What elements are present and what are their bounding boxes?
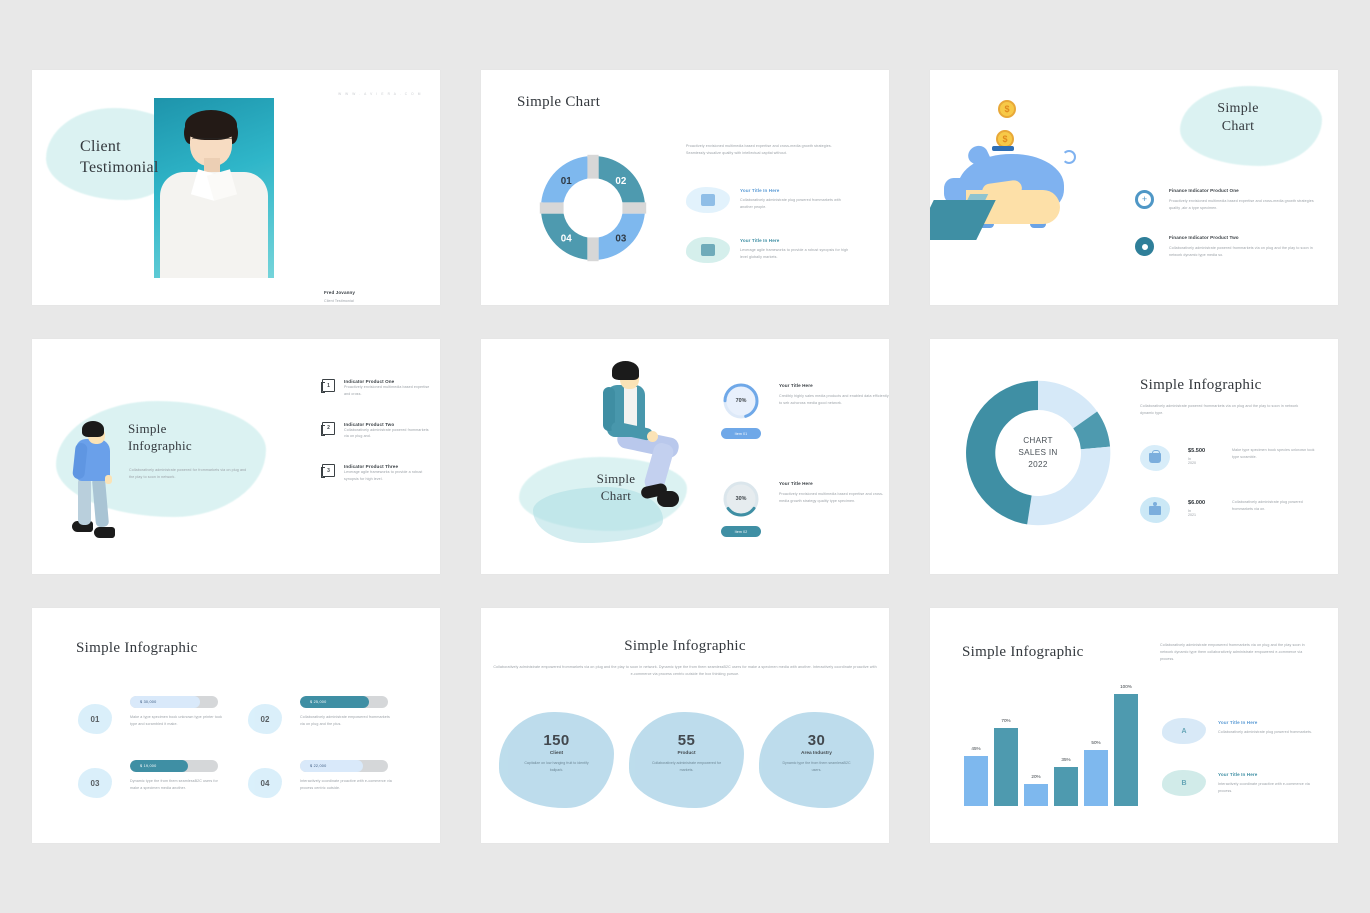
item-text: Leverage agile frameworks to provide a r… <box>344 469 434 483</box>
item-text: Credibly highly sales media products and… <box>779 393 889 407</box>
leg-right <box>92 477 109 528</box>
title-line-1: Simple <box>561 471 671 488</box>
bar-3[interactable]: 20% <box>1024 694 1048 806</box>
intro-paragraph: Proactively envisioned multimedia based … <box>686 143 846 157</box>
slide-infographic-barchart[interactable]: Simple Infographic Collaboratively admin… <box>930 608 1338 843</box>
bar-rect <box>1024 784 1048 806</box>
title-line-2: Chart <box>561 488 671 505</box>
seg-label-01: 01 <box>561 176 572 187</box>
bar-rect <box>1084 750 1108 806</box>
progress-ring-70: 70% <box>721 381 761 421</box>
seg-label-02: 02 <box>615 176 626 187</box>
amount-year: In 2020 <box>1188 457 1196 465</box>
page-title: Simple Infographic <box>1140 377 1262 394</box>
numbered-box-icon: 1 <box>322 379 335 392</box>
bar-6[interactable]: 100% <box>1114 694 1138 806</box>
stat-group[interactable]: 70% Item 01 Your Title Here Credibly hig… <box>721 381 761 439</box>
stat-group[interactable]: 30% Item 02 Your Title Here Proactively … <box>721 479 761 537</box>
cell-number: 04 <box>248 768 282 798</box>
list-item[interactable]: 1 Indicator Product One Proactively envi… <box>322 379 434 398</box>
slide-simple-chart-sitting[interactable]: Simple Chart 70% Item 01 Your Title Here… <box>481 339 889 574</box>
stat-label: Product <box>677 751 695 756</box>
slide-infographic-walking[interactable]: Simple Infographic Collaboratively admin… <box>32 339 440 574</box>
progress-track[interactable]: $ 19,000 <box>130 760 218 772</box>
sitting-person-illustration <box>481 339 889 574</box>
donut-gap-left <box>540 202 564 213</box>
item-title: Finance Indicator Product One <box>1169 188 1319 193</box>
stat-text: Capitalize on low hanging fruit to ident… <box>520 760 594 774</box>
progress-ring-30: 30% <box>721 479 761 519</box>
donut-gap-right <box>622 202 646 213</box>
legend-blob-a: A <box>1162 718 1206 744</box>
donut-svg: 01 02 03 04 <box>523 138 663 278</box>
bar-chart: 45% 70% 20% 35% 50% 100% <box>964 694 1136 806</box>
progress-track[interactable]: $ 22,000 <box>300 760 388 772</box>
intro-paragraph: Collaboratively administrate empowered f… <box>493 664 877 678</box>
bar-rect <box>994 728 1018 806</box>
list-item[interactable]: 2 Indicator Product Two Collaboratively … <box>322 422 434 441</box>
bag-icon-blob <box>1140 445 1170 471</box>
bar-value: 35% <box>1054 757 1078 762</box>
center-line-1: CHART <box>1018 435 1057 447</box>
page-title: Simple Chart <box>561 471 671 504</box>
subtitle: Collaboratively administrate powered for… <box>129 467 247 481</box>
stat-card[interactable]: 30 Area Industry Dynamic type the from t… <box>759 712 874 808</box>
bag-icon <box>1149 453 1161 463</box>
progress-fill: $ 30,000 <box>130 696 200 708</box>
stat-text: Dynamic type the from them seamlessB2C u… <box>780 760 854 774</box>
legend-title: Your Title In Here <box>1218 772 1324 777</box>
title-line-2: Infographic <box>128 438 192 455</box>
donut-gap-bottom <box>587 237 598 261</box>
donut-gap-top <box>587 155 598 179</box>
stat-number: 30 <box>808 732 826 749</box>
amount-value: $5.500 <box>1188 448 1205 454</box>
stat-label: Client <box>550 751 563 756</box>
item-text: Proactively envisioned multimedia based … <box>1169 198 1319 212</box>
page-title: Simple Infographic <box>962 644 1084 661</box>
sleeve <box>930 200 996 240</box>
testimonial-photo <box>154 98 274 278</box>
plus-circle-icon: + <box>1135 190 1154 209</box>
cell-text: Collaboratively administrate empowered f… <box>300 714 394 728</box>
legend-text: Collaboratively administrate plug powere… <box>1218 729 1322 736</box>
bar-2[interactable]: 70% <box>994 694 1018 806</box>
item-text: Collaboratively administrate powered fro… <box>1169 245 1319 259</box>
bar-rect <box>1114 694 1138 806</box>
list-item[interactable]: 3 Indicator Product Three Leverage agile… <box>322 464 434 483</box>
percent-label: 30% <box>736 496 747 502</box>
target-dot <box>1142 244 1148 250</box>
model-glasses <box>192 138 232 147</box>
hand <box>647 431 658 442</box>
bar-value: 70% <box>994 718 1018 723</box>
donut-chart-sales: CHART SALES IN 2022 <box>952 367 1124 539</box>
piggy-tail <box>1062 150 1076 164</box>
progress-fill: $ 25,000 <box>300 696 369 708</box>
stat-card[interactable]: 150 Client Capitalize on low hanging fru… <box>499 712 614 808</box>
folder-icon-blob <box>686 187 730 213</box>
bar-4[interactable]: 35% <box>1054 694 1078 806</box>
cell-text: Dynamic type the from them seamlessB2C u… <box>130 778 224 792</box>
bar-rect <box>964 756 988 806</box>
page-title: Client Testimonial <box>80 136 159 178</box>
site-url: W W W . A V I E R A . C O M <box>338 92 422 96</box>
slide-infographic-progress-bars[interactable]: Simple Infographic 01 $ 30,000 Make a ty… <box>32 608 440 843</box>
stat-label: Area Industry <box>801 751 832 756</box>
amount-year: In 2021 <box>1188 509 1196 517</box>
item-title: Your Title In Here <box>740 188 852 193</box>
indicator-list: 1 Indicator Product One Proactively envi… <box>322 379 434 507</box>
pill-badge[interactable]: Item 01 <box>721 428 761 439</box>
cell-number: 02 <box>248 704 282 734</box>
intro-paragraph: Collaboratively administrate empowered f… <box>1160 642 1308 662</box>
cell-text: Make a type specimen book unknown type p… <box>130 714 224 728</box>
hand <box>105 475 112 484</box>
slide-chart-sales-donut[interactable]: CHART SALES IN 2022 Simple Infographic C… <box>930 339 1338 574</box>
cell-number: 01 <box>78 704 112 734</box>
folder-star-icon-blob <box>686 237 730 263</box>
item-text: Collaboratively administrate powered fro… <box>344 427 434 441</box>
cell-number: 03 <box>78 768 112 798</box>
item-text: Proactively envisioned multimedia based … <box>779 491 889 505</box>
center-line-2: SALES IN <box>1018 447 1057 459</box>
book-icon-blob <box>1140 497 1170 523</box>
title-line-1: Simple <box>128 421 192 438</box>
person-name: Fred Jovanny <box>324 290 355 295</box>
amount-value: $6.000 <box>1188 500 1205 506</box>
item-title: Your Title Here <box>779 481 889 486</box>
hair <box>612 361 639 380</box>
target-circle-icon <box>1135 237 1154 256</box>
plus-glyph: + <box>1142 195 1147 204</box>
intro-paragraph: Collaboratively administrate powered fro… <box>1140 403 1308 417</box>
folder-icon <box>701 194 715 206</box>
item-title: Finance Indicator Product Two <box>1169 235 1319 240</box>
item-title: Your Title Here <box>779 383 889 388</box>
donut-center-label: CHART SALES IN 2022 <box>1018 435 1057 471</box>
bar-value: 20% <box>1024 774 1048 779</box>
bar-1[interactable]: 45% <box>964 694 988 806</box>
item-text: Proactively envisioned multimedia based … <box>344 384 434 398</box>
progress-fill: $ 19,000 <box>130 760 188 772</box>
legend-blob-b: B <box>1162 770 1206 796</box>
slide-grid: W W W . A V I E R A . C O M Client Testi… <box>32 70 1338 843</box>
stat-number: 55 <box>678 732 696 749</box>
slide-client-testimonial[interactable]: W W W . A V I E R A . C O M Client Testi… <box>32 70 440 305</box>
pill-badge[interactable]: Item 02 <box>721 526 761 537</box>
seg-label-04: 04 <box>561 234 572 245</box>
center-line-3: 2022 <box>1018 459 1057 471</box>
bar-rect <box>1054 767 1078 806</box>
bar-5[interactable]: 50% <box>1084 694 1108 806</box>
cell-text: Interactively coordinate proactive with … <box>300 778 394 792</box>
book-icon <box>1149 506 1161 515</box>
row-text: Collaboratively administrate plug powere… <box>1232 499 1318 513</box>
title-line-1: Client <box>80 136 159 157</box>
piggy-coin-slot <box>992 146 1014 151</box>
hair <box>82 421 104 437</box>
seg-label-03: 03 <box>615 234 626 245</box>
legend-title: Your Title In Here <box>1218 720 1324 725</box>
person-role: Client Testimonial <box>324 298 354 305</box>
coin-icon-top: $ <box>998 100 1016 118</box>
stat-text: Collaboratively administrate empowered f… <box>650 760 724 774</box>
row-text: Make type specimen book species unknown … <box>1232 447 1318 461</box>
title-line-2: Testimonial <box>80 157 159 178</box>
donut-chart-4-segment: 01 02 03 04 <box>523 138 663 278</box>
bar-value: 45% <box>964 746 988 751</box>
progress-fill: $ 22,000 <box>300 760 363 772</box>
leg-left <box>78 477 91 525</box>
folder-star-icon <box>701 244 715 256</box>
page-title: Simple Chart <box>517 94 600 111</box>
progress-track[interactable]: $ 30,000 <box>130 696 218 708</box>
slide-finance-piggy[interactable]: Simple Chart $ $ + Finance Indicator Pro… <box>930 70 1338 305</box>
numbered-box-icon: 2 <box>322 422 335 435</box>
stat-card[interactable]: 55 Product Collaboratively administrate … <box>629 712 744 808</box>
item-text: Collaboratively administrate plug powere… <box>740 197 852 211</box>
item-text: Leverage agile frameworks to provide a r… <box>740 247 852 261</box>
bar-value: 100% <box>1114 684 1138 689</box>
coin-symbol: $ <box>1004 104 1009 114</box>
item-title: Your Title In Here <box>740 238 852 243</box>
progress-track[interactable]: $ 25,000 <box>300 696 388 708</box>
bar-value: 50% <box>1084 740 1108 745</box>
legend-text: Interactively coordinate proactive with … <box>1218 781 1322 795</box>
page-title: Simple Infographic <box>76 640 198 657</box>
numbered-box-icon: 3 <box>322 464 335 477</box>
page-title: Simple Infographic <box>128 421 192 455</box>
model-hair <box>185 110 237 140</box>
shoe-right <box>94 527 115 538</box>
coin-symbol: $ <box>1002 134 1007 144</box>
page-title: Simple Infographic <box>481 638 889 655</box>
slide-infographic-stats[interactable]: Simple Infographic Collaboratively admin… <box>481 608 889 843</box>
stat-number: 150 <box>543 732 569 749</box>
slide-simple-chart-donut[interactable]: Simple Chart 01 <box>481 70 889 305</box>
percent-label: 70% <box>736 398 747 404</box>
